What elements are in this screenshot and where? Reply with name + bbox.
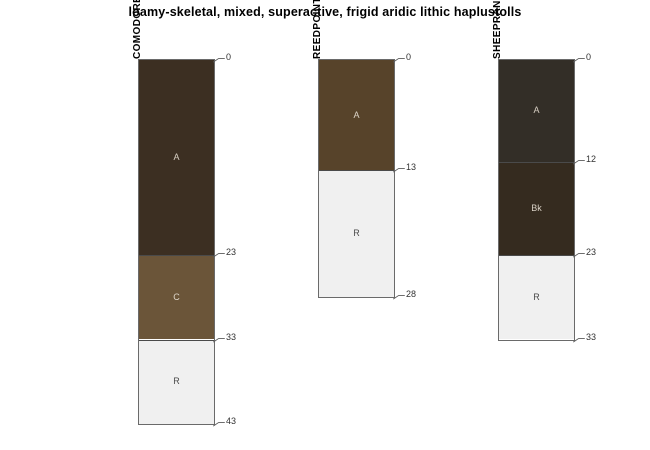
horizon-label: A xyxy=(533,106,539,115)
depth-tick-label: 13 xyxy=(406,163,416,172)
soil-profile-chart: loamy-skeletal, mixed, superactive, frig… xyxy=(0,0,650,450)
horizon-label: R xyxy=(353,229,360,238)
profile-column: ACR xyxy=(138,59,215,425)
horizon-a: A xyxy=(499,60,574,162)
depth-tick-label: 12 xyxy=(586,155,596,164)
profile-name-label: SHEEPRANGE xyxy=(492,0,503,59)
tick-leader-line xyxy=(213,250,225,258)
horizon-a: A xyxy=(139,60,214,255)
horizon-separator xyxy=(499,255,574,256)
horizon-c: C xyxy=(139,255,214,340)
horizon-separator xyxy=(319,170,394,171)
profile-column: AR xyxy=(318,59,395,298)
tick-leader-line xyxy=(213,335,225,343)
horizon-separator xyxy=(139,340,214,341)
depth-tick-label: 23 xyxy=(586,248,596,257)
profile-name-label: COMODORE xyxy=(132,0,143,59)
horizon-r: R xyxy=(139,340,214,425)
tick-leader-line xyxy=(393,165,405,173)
tick-leader-line xyxy=(573,55,585,63)
tick-leader-line xyxy=(393,55,405,63)
horizon-label: R xyxy=(173,377,180,386)
tick-leader-line xyxy=(573,335,585,343)
tick-leader-line xyxy=(573,157,585,165)
depth-tick-label: 33 xyxy=(226,333,236,342)
tick-leader-line xyxy=(393,292,405,300)
tick-leader-line xyxy=(573,250,585,258)
horizon-bk: Bk xyxy=(499,162,574,255)
horizon-a: A xyxy=(319,60,394,170)
horizon-separator xyxy=(139,255,214,256)
tick-leader-line xyxy=(213,55,225,63)
depth-tick-label: 43 xyxy=(226,417,236,426)
tick-leader-line xyxy=(213,419,225,427)
depth-tick-label: 33 xyxy=(586,333,596,342)
horizon-r: R xyxy=(319,170,394,297)
horizon-r: R xyxy=(499,255,574,340)
horizon-label: C xyxy=(173,293,180,302)
horizon-label: R xyxy=(533,293,540,302)
horizon-separator xyxy=(499,162,574,163)
depth-tick-label: 23 xyxy=(226,248,236,257)
horizon-label: A xyxy=(353,111,359,120)
page-title: loamy-skeletal, mixed, superactive, frig… xyxy=(0,5,650,19)
depth-tick-label: 0 xyxy=(586,53,591,62)
horizon-label: A xyxy=(173,153,179,162)
depth-tick-label: 0 xyxy=(406,53,411,62)
profile-column: ABkR xyxy=(498,59,575,341)
profile-name-label: REEDPOINT xyxy=(312,0,323,59)
depth-tick-label: 0 xyxy=(226,53,231,62)
horizon-label: Bk xyxy=(531,204,542,213)
depth-tick-label: 28 xyxy=(406,290,416,299)
